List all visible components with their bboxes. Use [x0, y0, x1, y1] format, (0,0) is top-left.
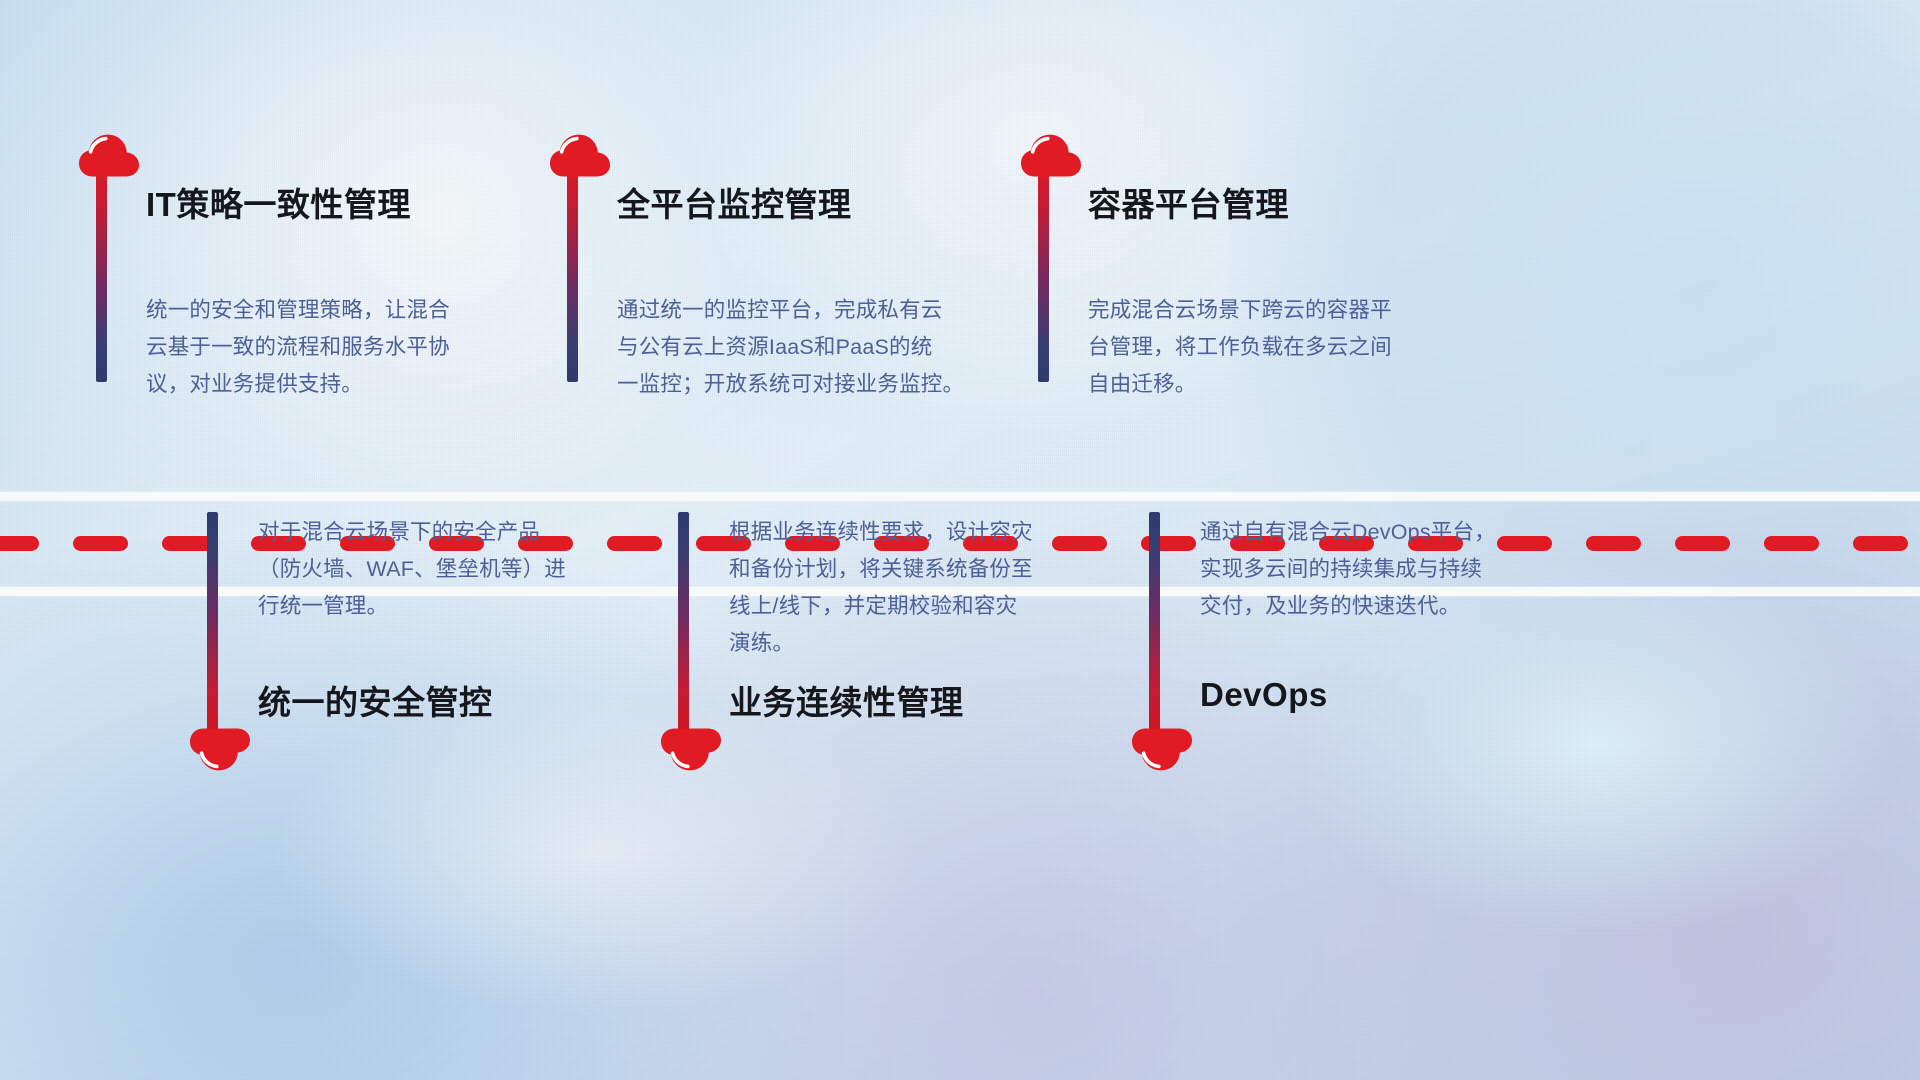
- connector-stem: [96, 160, 107, 382]
- connector-stem: [207, 512, 218, 734]
- feature-description-line: 统一的安全和管理策略，让混合: [146, 292, 526, 329]
- divider-dash: [1675, 536, 1730, 551]
- feature-title: IT策略一致性管理: [146, 178, 411, 226]
- feature-description-line: 台管理，将工作负载在多云之间: [1088, 329, 1468, 366]
- feature-description: 对于混合云场景下的安全产品（防火墙、WAF、堡垒机等）进行统一管理。: [258, 514, 638, 625]
- connector-stem: [567, 160, 578, 382]
- feature-title: 容器平台管理: [1088, 178, 1289, 226]
- divider-dash: [1853, 536, 1908, 551]
- cloud-icon: [660, 728, 722, 774]
- divider-dash: [1764, 536, 1819, 551]
- feature-description-line: 演练。: [729, 625, 1109, 662]
- feature-title: DevOps: [1200, 676, 1328, 714]
- cloud-icon: [549, 131, 611, 177]
- connector-stem: [678, 512, 689, 734]
- feature-description-line: 通过统一的监控平台，完成私有云: [617, 292, 997, 329]
- cloud-icon: [189, 728, 251, 774]
- feature-description-line: 议，对业务提供支持。: [146, 366, 526, 403]
- feature-description-line: 对于混合云场景下的安全产品: [258, 514, 638, 551]
- divider-rule-top: [0, 492, 1920, 501]
- feature-description-line: 和备份计划，将关键系统备份至: [729, 551, 1109, 588]
- feature-description: 统一的安全和管理策略，让混合云基于一致的流程和服务水平协议，对业务提供支持。: [146, 292, 526, 403]
- cloud-icon: [1020, 131, 1082, 177]
- feature-description-line: 行统一管理。: [258, 588, 638, 625]
- feature-description: 通过自有混合云DevOps平台，实现多云间的持续集成与持续交付，及业务的快速迭代…: [1200, 514, 1580, 625]
- feature-title: 业务连续性管理: [729, 676, 964, 724]
- cloud-icon: [78, 131, 140, 177]
- feature-description-line: （防火墙、WAF、堡垒机等）进: [258, 551, 638, 588]
- feature-description: 通过统一的监控平台，完成私有云与公有云上资源IaaS和PaaS的统一监控；开放系…: [617, 292, 997, 403]
- divider-dash: [1586, 536, 1641, 551]
- feature-title: 全平台监控管理: [617, 178, 852, 226]
- feature-description-line: 根据业务连续性要求，设计容灾: [729, 514, 1109, 551]
- feature-description-line: 实现多云间的持续集成与持续: [1200, 551, 1580, 588]
- feature-description-line: 线上/线下，并定期校验和容灾: [729, 588, 1109, 625]
- feature-description-line: 交付，及业务的快速迭代。: [1200, 588, 1580, 625]
- connector-stem: [1149, 512, 1160, 734]
- feature-description-line: 一监控；开放系统可对接业务监控。: [617, 366, 997, 403]
- feature-description: 根据业务连续性要求，设计容灾和备份计划，将关键系统备份至线上/线下，并定期校验和…: [729, 514, 1109, 662]
- feature-description-line: 通过自有混合云DevOps平台，: [1200, 514, 1580, 551]
- feature-description-line: 与公有云上资源IaaS和PaaS的统: [617, 329, 997, 366]
- feature-description-line: 完成混合云场景下跨云的容器平: [1088, 292, 1468, 329]
- divider-dash: [73, 536, 128, 551]
- cloud-icon: [1131, 728, 1193, 774]
- feature-title: 统一的安全管控: [258, 676, 493, 724]
- feature-description-line: 云基于一致的流程和服务水平协: [146, 329, 526, 366]
- divider-dash: [0, 536, 39, 551]
- feature-description-line: 自由迁移。: [1088, 366, 1468, 403]
- feature-description: 完成混合云场景下跨云的容器平台管理，将工作负载在多云之间自由迁移。: [1088, 292, 1468, 403]
- connector-stem: [1038, 160, 1049, 382]
